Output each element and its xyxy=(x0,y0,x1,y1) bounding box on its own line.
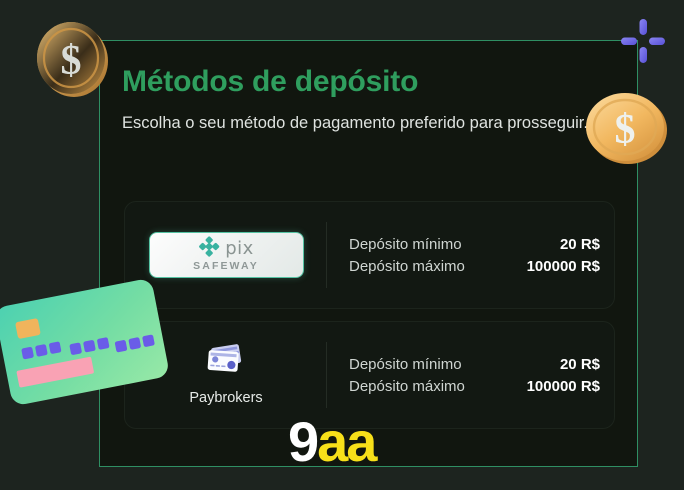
pix-wordmark: pix xyxy=(225,240,254,258)
method-limits-pix: Depósito mínimo 20 R$ Depósito máximo 10… xyxy=(327,236,614,275)
page-title: Métodos de depósito xyxy=(122,65,615,100)
limit-label-max: Depósito máximo xyxy=(349,378,465,395)
limit-value-min: 20 R$ xyxy=(560,356,600,373)
limit-row-min: Depósito mínimo 20 R$ xyxy=(349,356,600,373)
credit-card-icon xyxy=(0,272,175,412)
payment-method-card-pix[interactable]: pix SAFEWAY Depósito mínimo 20 R$ Depósi… xyxy=(124,201,615,309)
pix-safeway-label: SAFEWAY xyxy=(193,261,259,272)
payment-methods-list: pix SAFEWAY Depósito mínimo 20 R$ Depósi… xyxy=(124,201,615,441)
limit-value-min: 20 R$ xyxy=(560,236,600,253)
limit-value-max: 100000 R$ xyxy=(527,378,600,395)
plus-cross-icon xyxy=(620,18,666,64)
paybrokers-brand: Paybrokers xyxy=(189,344,262,406)
page-subtitle: Escolha o seu método de pagamento prefer… xyxy=(122,112,592,136)
limit-label-min: Depósito mínimo xyxy=(349,356,462,373)
gold-coin-dollar-icon: $ xyxy=(33,16,111,100)
watermark-first-char: 9 xyxy=(288,410,317,473)
svg-text:$: $ xyxy=(61,38,82,84)
limit-value-max: 100000 R$ xyxy=(527,258,600,275)
credit-cards-icon xyxy=(204,344,248,383)
limit-row-max: Depósito máximo 100000 R$ xyxy=(349,378,600,395)
limit-label-min: Depósito mínimo xyxy=(349,236,462,253)
pix-logo-row: pix xyxy=(198,239,254,260)
watermark-logo: 9aa xyxy=(288,414,375,470)
limit-row-max: Depósito máximo 100000 R$ xyxy=(349,258,600,275)
panel-content: Métodos de depósito Escolha o seu método… xyxy=(100,41,637,466)
limit-row-min: Depósito mínimo 20 R$ xyxy=(349,236,600,253)
method-limits-paybrokers: Depósito mínimo 20 R$ Depósito máximo 10… xyxy=(327,356,614,395)
paybrokers-label: Paybrokers xyxy=(189,391,262,406)
limit-label-max: Depósito máximo xyxy=(349,258,465,275)
gold-coin-dollar-icon: $ xyxy=(583,88,669,166)
pix-diamond-icon xyxy=(198,236,220,263)
deposit-methods-panel: Métodos de depósito Escolha o seu método… xyxy=(99,40,638,467)
watermark-rest: aa xyxy=(317,410,375,473)
svg-text:$: $ xyxy=(615,107,636,153)
